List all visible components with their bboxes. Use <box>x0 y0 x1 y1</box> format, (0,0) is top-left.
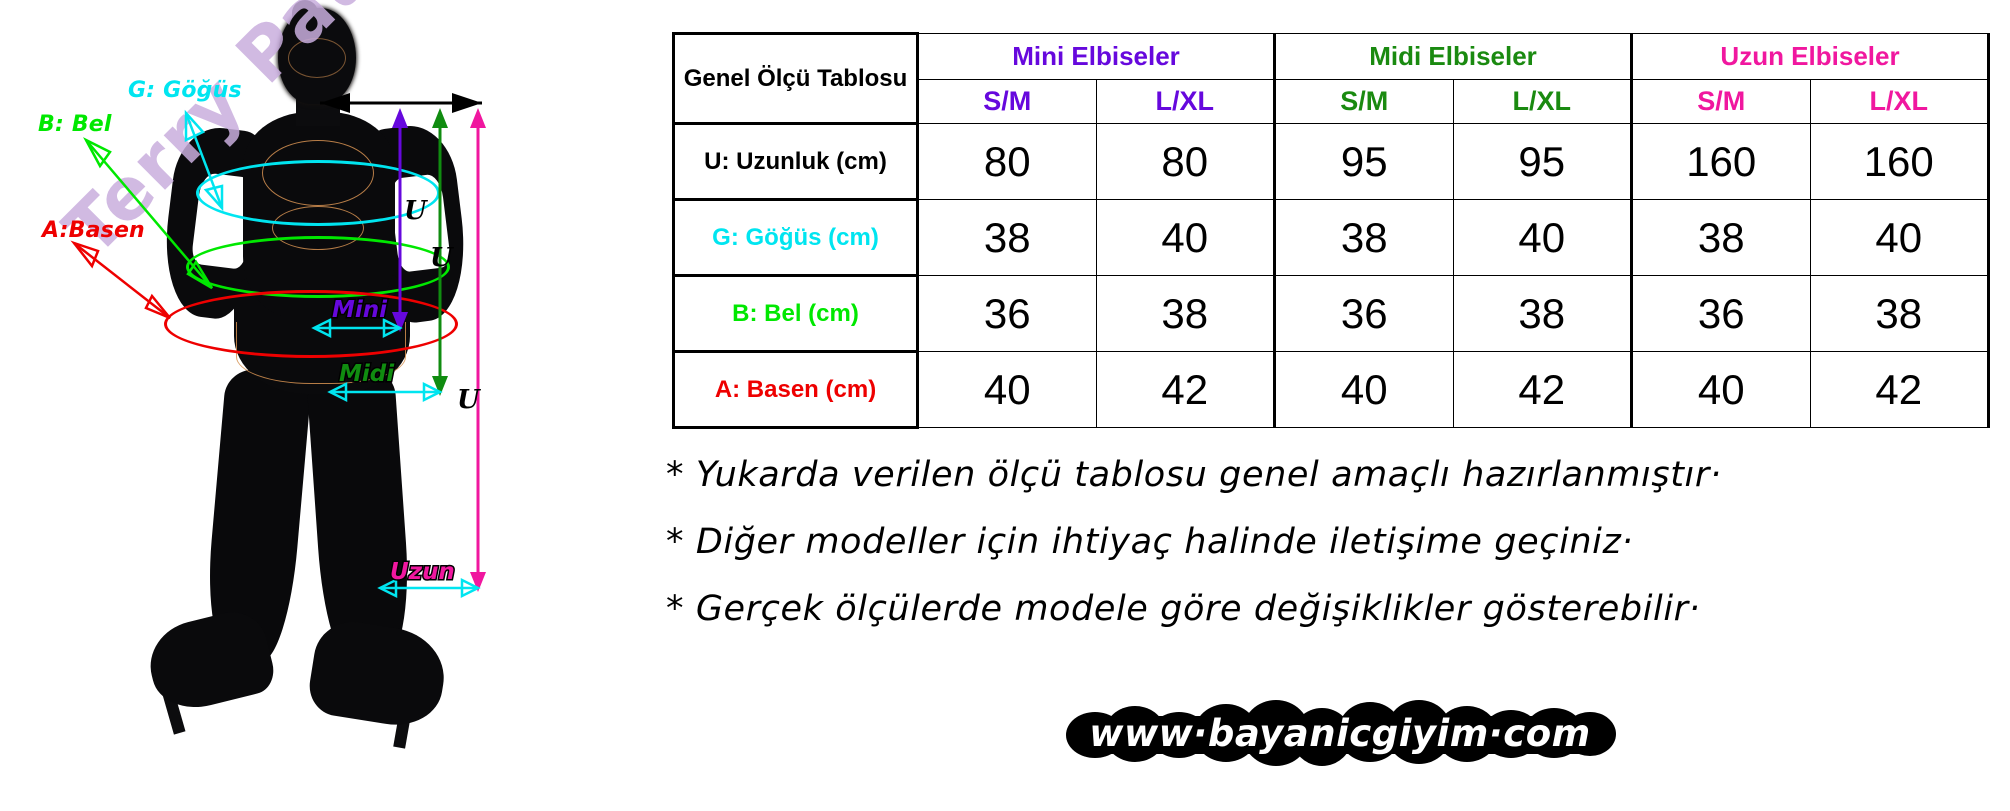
size-header-uzun-sm: S/M <box>1632 80 1811 124</box>
row-label-gogus: G: Göğüs (cm) <box>674 200 918 276</box>
bust-label: G: Göğüs <box>128 78 242 103</box>
size-chart-page: Terry Pau <box>0 0 2010 811</box>
cell-uzunluk-midi-lxl: 95 <box>1453 124 1632 200</box>
uzun-length-arrow <box>470 108 486 592</box>
cell-uzunluk-mini-lxl: 80 <box>1096 124 1275 200</box>
note-line-1: * Yukarda verilen ölçü tablosu genel ama… <box>666 458 2006 493</box>
hip-label: A:Basen <box>42 218 145 243</box>
group-header-uzun: Uzun Elbiseler <box>1632 34 1989 80</box>
group-header-midi: Midi Elbiseler <box>1275 34 1632 80</box>
cell-basen-mini-sm: 40 <box>918 352 1097 428</box>
note-line-2: * Diğer modeller için ihtiyaç halinde il… <box>666 525 2006 560</box>
size-header-mini-lxl: L/XL <box>1096 80 1275 124</box>
hip-measure-ellipse <box>164 290 458 358</box>
cell-basen-midi-sm: 40 <box>1275 352 1454 428</box>
group-header-mini: Mini Elbiseler <box>918 34 1275 80</box>
cell-gogus-mini-sm: 38 <box>918 200 1097 276</box>
size-header-uzun-lxl: L/XL <box>1810 80 1989 124</box>
cell-bel-midi-lxl: 38 <box>1453 276 1632 352</box>
table-corner-label: Genel Ölçü Tablosu <box>674 34 918 124</box>
cell-bel-mini-sm: 36 <box>918 276 1097 352</box>
u-marker-mini: U <box>404 196 427 226</box>
cell-uzunluk-uzun-sm: 160 <box>1632 124 1811 200</box>
cell-basen-uzun-lxl: 42 <box>1810 352 1989 428</box>
model-illustration: Terry Pau <box>0 0 660 811</box>
table-row: B: Bel (cm) 36 38 36 38 36 38 <box>674 276 1989 352</box>
table-row: A: Basen (cm) 40 42 40 42 40 42 <box>674 352 1989 428</box>
cell-uzunluk-uzun-lxl: 160 <box>1810 124 1989 200</box>
cell-uzunluk-mini-sm: 80 <box>918 124 1097 200</box>
hip-callout-arrow <box>74 243 170 318</box>
size-header-midi-lxl: L/XL <box>1453 80 1632 124</box>
note-line-3: * Gerçek ölçülerde modele göre değişikli… <box>666 592 2006 627</box>
size-header-mini-sm: S/M <box>918 80 1097 124</box>
row-label-bel: B: Bel (cm) <box>674 276 918 352</box>
cell-bel-uzun-lxl: 38 <box>1810 276 1989 352</box>
uzun-label-text: Uzun <box>390 559 455 585</box>
mini-label-text: Mini <box>332 297 387 323</box>
cell-basen-mini-lxl: 42 <box>1096 352 1275 428</box>
cell-gogus-uzun-lxl: 40 <box>1810 200 1989 276</box>
u-marker-uzun: U <box>457 385 480 415</box>
table-group-header-row: Genel Ölçü Tablosu Mini Elbiseler Midi E… <box>674 34 1989 80</box>
hip-label-text: A:Basen <box>42 218 145 243</box>
cell-gogus-midi-lxl: 40 <box>1453 200 1632 276</box>
mini-label: Mini <box>332 297 387 323</box>
cell-basen-midi-lxl: 42 <box>1453 352 1632 428</box>
u-marker-midi: U <box>430 243 453 273</box>
uzun-label: Uzun <box>390 559 455 585</box>
cell-gogus-mini-lxl: 40 <box>1096 200 1275 276</box>
waist-label-text: B: Bel <box>38 112 112 137</box>
shoulder-line-arrow <box>320 93 482 113</box>
waist-label: B: Bel <box>38 112 112 137</box>
cell-gogus-midi-sm: 38 <box>1275 200 1454 276</box>
size-table: Genel Ölçü Tablosu Mini Elbiseler Midi E… <box>672 32 1990 429</box>
figure-right-boot <box>305 616 450 731</box>
cell-uzunluk-midi-sm: 95 <box>1275 124 1454 200</box>
website-banner[interactable]: www·bayanicgiyim·com <box>1060 700 1620 766</box>
size-table-container: Genel Ölçü Tablosu Mini Elbiseler Midi E… <box>672 32 1990 429</box>
cell-gogus-uzun-sm: 38 <box>1632 200 1811 276</box>
midi-label: Midi <box>339 361 394 387</box>
cell-bel-mini-lxl: 38 <box>1096 276 1275 352</box>
figure-right-leg <box>306 365 414 666</box>
notes-section: * Yukarda verilen ölçü tablosu genel ama… <box>666 458 2006 659</box>
waist-measure-ellipse <box>186 236 450 298</box>
cell-bel-uzun-sm: 36 <box>1632 276 1811 352</box>
outfit-rimlight-mask <box>288 38 346 78</box>
bust-label-text: G: Göğüs <box>128 78 242 103</box>
row-label-basen: A: Basen (cm) <box>674 352 918 428</box>
size-header-midi-sm: S/M <box>1275 80 1454 124</box>
website-url-text: www·bayanicgiyim·com <box>1060 700 1620 766</box>
row-label-uzunluk: U: Uzunluk (cm) <box>674 124 918 200</box>
cell-bel-midi-sm: 36 <box>1275 276 1454 352</box>
table-row: G: Göğüs (cm) 38 40 38 40 38 40 <box>674 200 1989 276</box>
midi-label-text: Midi <box>339 361 394 387</box>
table-row: U: Uzunluk (cm) 80 80 95 95 160 160 <box>674 124 1989 200</box>
cell-basen-uzun-sm: 40 <box>1632 352 1811 428</box>
